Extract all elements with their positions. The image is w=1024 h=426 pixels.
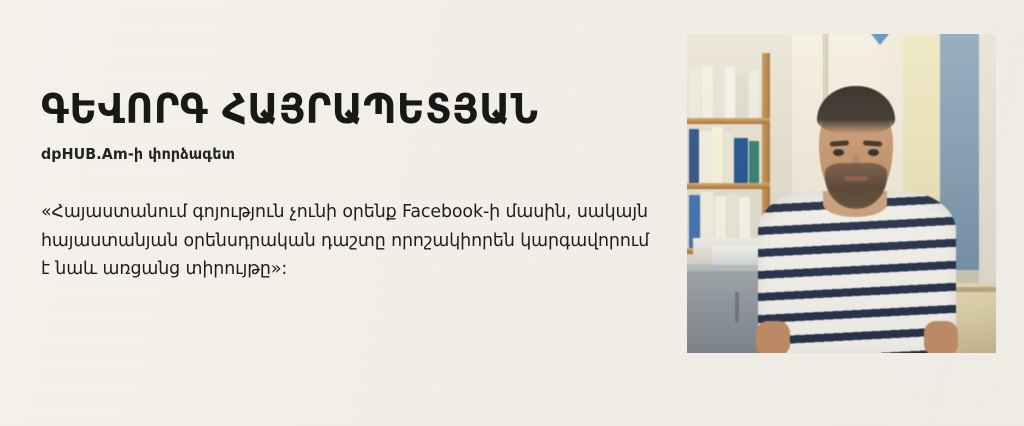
portrait-photo-frame xyxy=(687,34,996,353)
mouth xyxy=(844,176,867,181)
portrait-photo xyxy=(687,34,996,353)
blue-triangle-decor xyxy=(866,34,894,45)
striped-shirt xyxy=(758,191,956,353)
quote-card: ԳԵՎՈՐԳ ՀԱՅՐԱՊԵՏՅԱՆ dpHUB.Am-ի փորձագետ «… xyxy=(0,0,1024,426)
left-arm xyxy=(756,321,790,353)
left-eye xyxy=(833,149,844,156)
bookshelf-row-2 xyxy=(689,123,766,184)
bookshelf-row-1 xyxy=(689,62,766,118)
head xyxy=(819,97,892,207)
subtitle-role: dpHUB.Am-ի փորձագետ xyxy=(41,145,611,163)
person-figure xyxy=(758,91,956,353)
right-eyebrow xyxy=(863,140,882,147)
hair xyxy=(817,86,895,134)
right-arm xyxy=(924,321,958,353)
tissue-box xyxy=(712,246,765,265)
cabinet-handle xyxy=(735,292,739,322)
left-eyebrow xyxy=(829,140,848,147)
text-column: ԳԵՎՈՐԳ ՀԱՅՐԱՊԵՏՅԱՆ dpHUB.Am-ի փորձագետ «… xyxy=(41,88,661,284)
quote-text: «Հայաստանում գոյություն չունի օրենք Face… xyxy=(41,198,661,283)
page-title: ԳԵՎՈՐԳ ՀԱՅՐԱՊԵՏՅԱՆ xyxy=(41,88,618,131)
office-cabinet xyxy=(687,264,764,353)
right-eye xyxy=(868,149,879,156)
